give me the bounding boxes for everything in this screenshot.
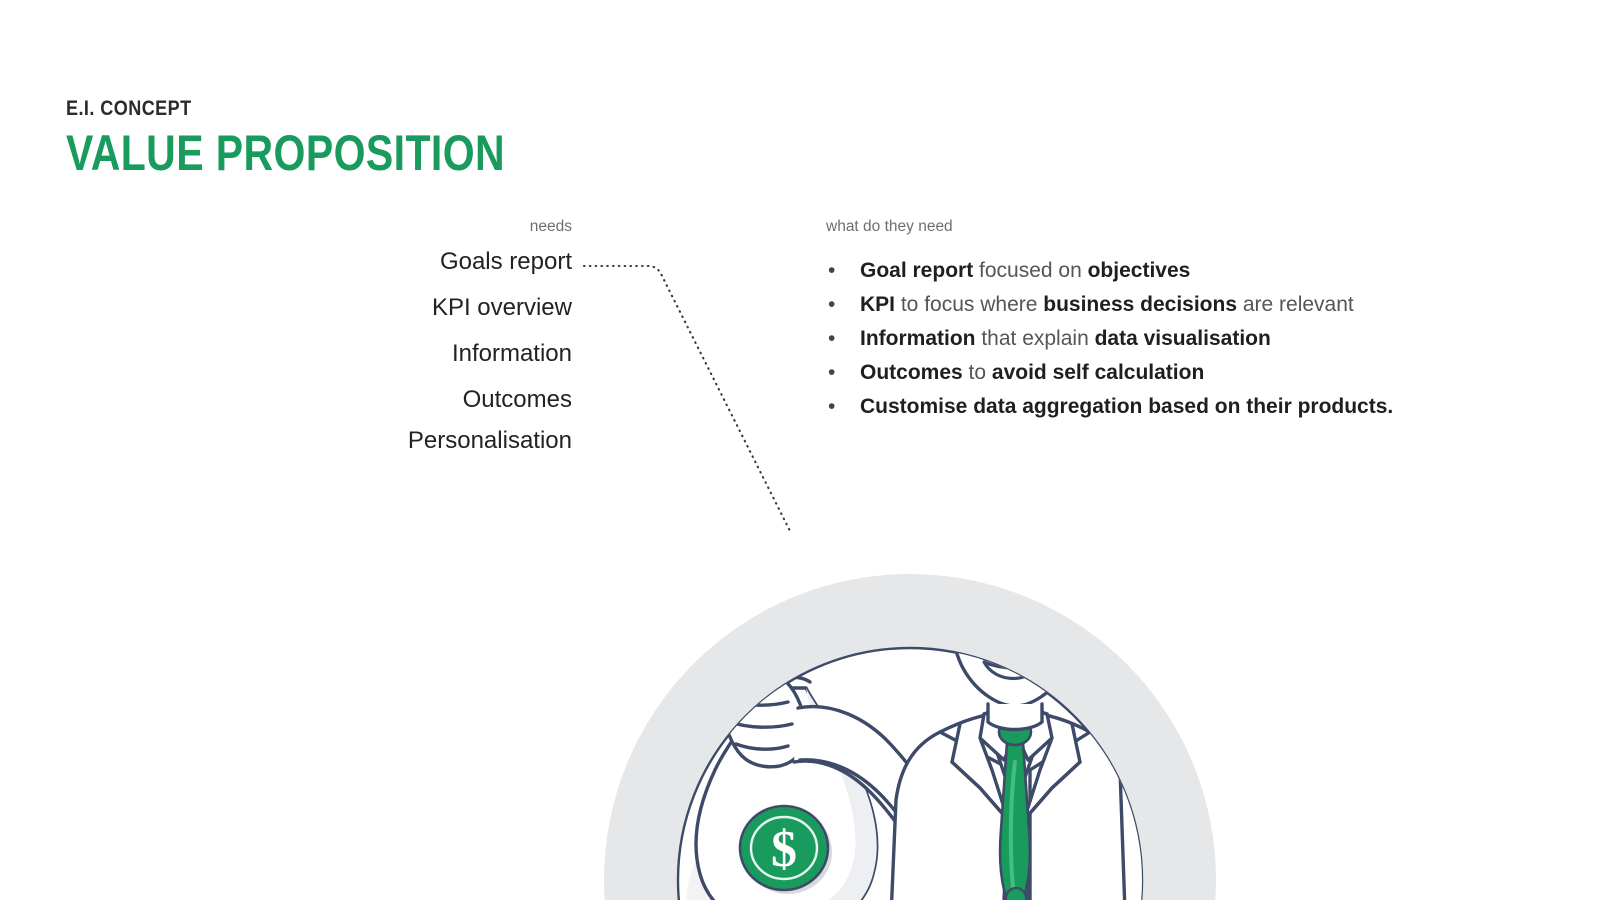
- ear-right: [1076, 579, 1098, 620]
- slide-header: E.I. CONCEPT VALUE PROPOSITION: [66, 98, 601, 179]
- answer-bullet-text: Outcomes to avoid self calculation: [860, 361, 1204, 384]
- jacket-button: [1006, 888, 1026, 900]
- answer-bullet-3: •Information that explain data visualisa…: [826, 322, 1526, 356]
- bullet-point-icon: •: [828, 288, 835, 322]
- bullet-point-icon: •: [828, 390, 835, 424]
- answer-bullet-2: •KPI to focus where business decisions a…: [826, 288, 1526, 322]
- answer-bullet-text: Customise data aggregation based on thei…: [860, 395, 1393, 418]
- need-item-kpi-overview[interactable]: KPI overview: [250, 296, 572, 320]
- answer-bullet-5: •Customise data aggregation based on the…: [826, 390, 1526, 424]
- bullet-point-icon: •: [828, 254, 835, 288]
- page-title: VALUE PROPOSITION: [66, 128, 505, 179]
- hair: [945, 492, 1090, 574]
- answer-bullet-1: •Goal report focused on objectives: [826, 254, 1526, 288]
- needs-caption: needs: [250, 218, 572, 237]
- slide-canvas: E.I. CONCEPT VALUE PROPOSITION needs Goa…: [0, 0, 1600, 900]
- slide-eyebrow: E.I. CONCEPT: [66, 98, 526, 119]
- needs-column: needs Goals report KPI overview Informat…: [250, 218, 572, 453]
- answer-bullet-text: Information that explain data visualisat…: [860, 327, 1271, 350]
- dollar-symbol: $: [771, 821, 797, 878]
- need-item-information[interactable]: Information: [250, 342, 572, 366]
- need-item-personalisation[interactable]: Personalisation: [250, 429, 572, 453]
- answer-bullet-4: •Outcomes to avoid self calculation: [826, 356, 1526, 390]
- eyebrow-right: [1030, 582, 1066, 590]
- illustration-businessman-money-bag: $: [560, 470, 1280, 900]
- answer-bullet-text: Goal report focused on objectives: [860, 259, 1190, 282]
- need-item-outcomes[interactable]: Outcomes: [250, 388, 572, 412]
- bullet-point-icon: •: [828, 356, 835, 390]
- answers-bullet-list: •Goal report focused on objectives•KPI t…: [826, 254, 1526, 424]
- bullet-point-icon: •: [828, 322, 835, 356]
- answers-caption: what do they need: [826, 218, 1526, 237]
- answers-column: what do they need •Goal report focused o…: [826, 218, 1526, 424]
- neck: [988, 704, 1042, 730]
- need-item-goals-report[interactable]: Goals report: [250, 250, 572, 274]
- answer-bullet-text: KPI to focus where business decisions ar…: [860, 293, 1354, 316]
